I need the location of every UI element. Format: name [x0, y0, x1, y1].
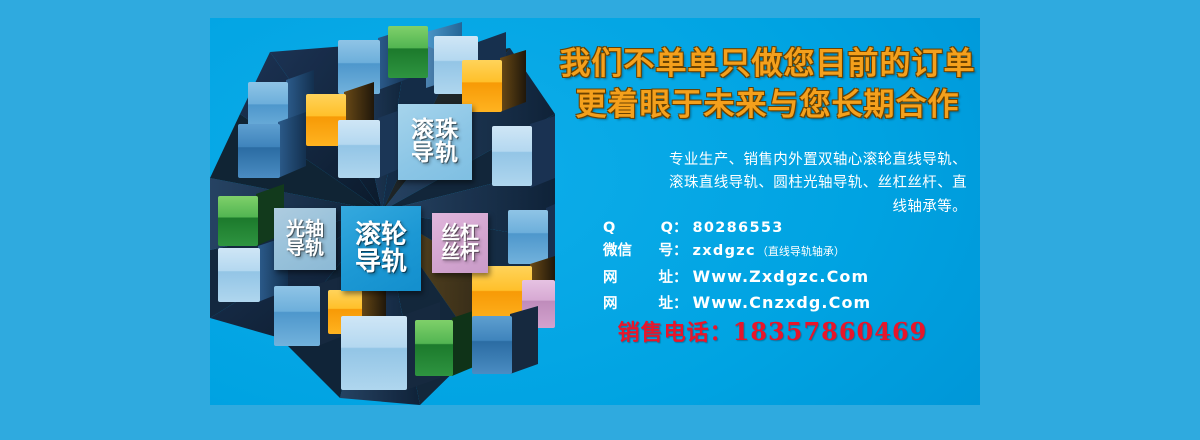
- contact-row-website-2: 网 址 ： Www.Cnzxdg.Com: [603, 290, 963, 316]
- contact-colon: ：: [673, 217, 688, 240]
- product-label-sigang-sigan: 丝杠 丝杆: [432, 213, 488, 273]
- product-label-line2: 导轨: [286, 239, 324, 258]
- product-label-line2: 导轨: [411, 142, 459, 165]
- product-label-line2: 丝杆: [441, 243, 479, 262]
- contact-key: 网 址: [603, 293, 673, 316]
- contact-value-wechat: zxdgzc: [693, 240, 756, 263]
- contact-value-website-2[interactable]: Www.Cnzxdg.Com: [693, 290, 872, 316]
- contact-colon: ：: [673, 240, 688, 263]
- description-line1: 专业生产、销售内外置双轴心滚轮直线导轨、: [577, 149, 967, 172]
- promo-banner: 滚珠 导轨 光轴 导轨 滚轮 导轨 丝杠 丝杆 我们不单单只做您目前的订单 更着…: [210, 18, 980, 405]
- sales-phone-number: 18357860469: [733, 317, 928, 346]
- description: 专业生产、销售内外置双轴心滚轮直线导轨、 滚珠直线导轨、圆柱光轴导轨、丝杠丝杆、…: [577, 149, 967, 219]
- product-label-guangzhou-daogui: 光轴 导轨: [274, 208, 336, 270]
- sales-phone: 销售电话：18357860469: [565, 315, 980, 347]
- contact-note-wechat: （直线导轨轴承）: [757, 243, 845, 261]
- contact-colon: ：: [673, 293, 688, 316]
- contact-key: 网 址: [603, 267, 673, 290]
- product-label-line1: 滚轮: [355, 222, 407, 249]
- banner-text-column: 我们不单单只做您目前的订单 更着眼于未来与您长期合作 专业生产、销售内外置双轴心…: [555, 18, 980, 405]
- banner-canvas: 滚珠 导轨 光轴 导轨 滚轮 导轨 丝杠 丝杆 我们不单单只做您目前的订单 更着…: [0, 0, 1200, 440]
- contact-row-website-1: 网 址 ： Www.Zxdgzc.Com: [603, 264, 963, 290]
- headline-line2: 更着眼于未来与您长期合作: [555, 85, 980, 126]
- contact-colon: ：: [673, 267, 688, 290]
- sales-phone-label: 销售电话：: [618, 321, 733, 346]
- product-label-gunzhu-daogui: 滚珠 导轨: [398, 104, 472, 180]
- contact-key: Q Q: [603, 217, 673, 240]
- product-label-gunlun-daogui: 滚轮 导轨: [341, 206, 421, 291]
- headline-line1: 我们不单单只做您目前的订单: [555, 44, 980, 85]
- product-label-line2: 导轨: [355, 249, 407, 276]
- description-line3: 线轴承等。: [577, 196, 967, 219]
- contact-block: Q Q ： 80286553 微信 号 ： zxdgzc （直线导轨轴承）: [603, 217, 963, 317]
- contact-row-qq: Q Q ： 80286553: [603, 217, 963, 240]
- contact-value-qq: 80286553: [693, 217, 784, 240]
- description-line2: 滚珠直线导轨、圆柱光轴导轨、丝杠丝杆、直: [577, 172, 967, 195]
- contact-row-wechat: 微信 号 ： zxdgzc （直线导轨轴承）: [603, 240, 963, 263]
- headline: 我们不单单只做您目前的订单 更着眼于未来与您长期合作: [555, 44, 980, 126]
- contact-key: 微信 号: [603, 240, 673, 263]
- product-label-line1: 滚珠: [411, 119, 459, 142]
- contact-value-website-1[interactable]: Www.Zxdgzc.Com: [693, 264, 870, 290]
